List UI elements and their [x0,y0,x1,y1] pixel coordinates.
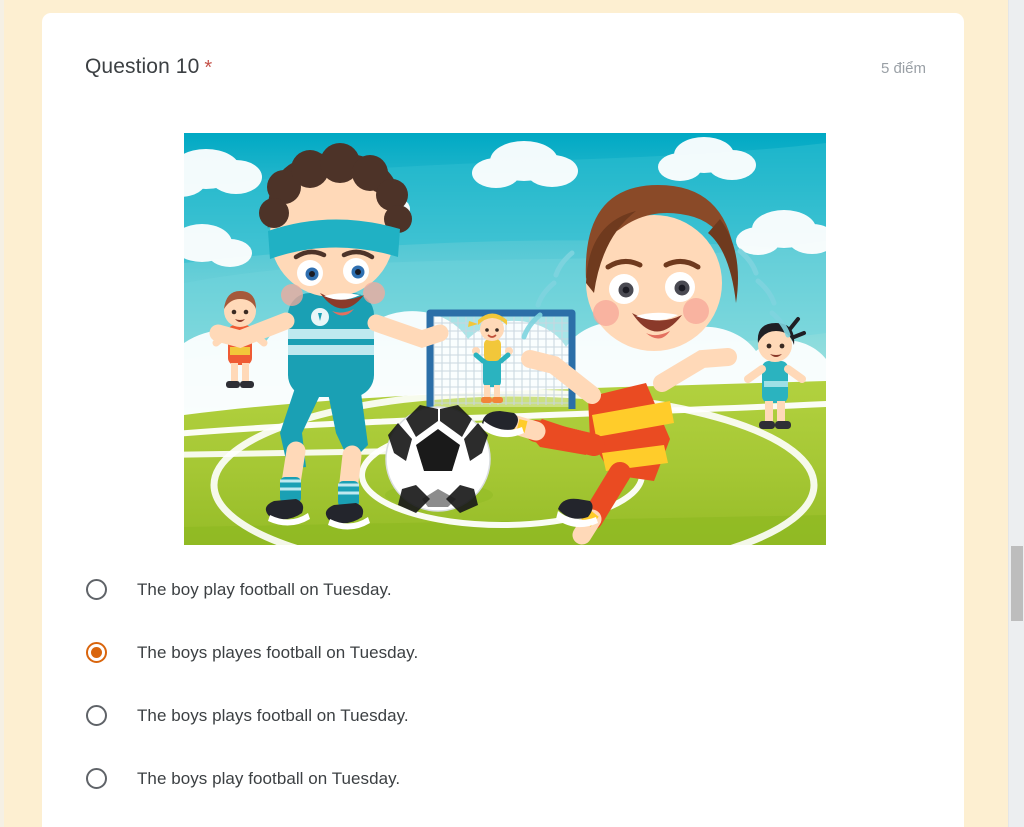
option-row-1[interactable]: The boy play football on Tuesday. [85,558,934,621]
question-title: Question 10 [85,55,199,78]
question-card: Question 10* 5 điểm [42,13,964,827]
option-label-4: The boys play football on Tuesday. [137,769,400,789]
option-label-3: The boys plays football on Tuesday. [137,706,409,726]
radio-icon-4[interactable] [86,768,107,789]
option-row-2[interactable]: The boys playes football on Tuesday. [85,621,934,684]
required-asterisk: * [204,57,212,79]
vertical-scrollbar[interactable] [1008,0,1024,827]
question-title-group: Question 10* [85,55,212,79]
radio-icon-2[interactable] [86,642,107,663]
football-illustration [184,133,826,545]
answer-options: The boy play football on Tuesday. The bo… [85,558,934,810]
page-left-edge [0,0,4,827]
radio-icon-1[interactable] [86,579,107,600]
option-row-3[interactable]: The boys plays football on Tuesday. [85,684,934,747]
scrollbar-thumb[interactable] [1011,546,1023,621]
option-label-2: The boys playes football on Tuesday. [137,643,418,663]
question-image [184,133,826,545]
question-header: Question 10* 5 điểm [85,55,926,87]
option-label-1: The boy play football on Tuesday. [137,580,392,600]
option-row-4[interactable]: The boys play football on Tuesday. [85,747,934,810]
radio-icon-3[interactable] [86,705,107,726]
question-points: 5 điểm [881,60,926,77]
